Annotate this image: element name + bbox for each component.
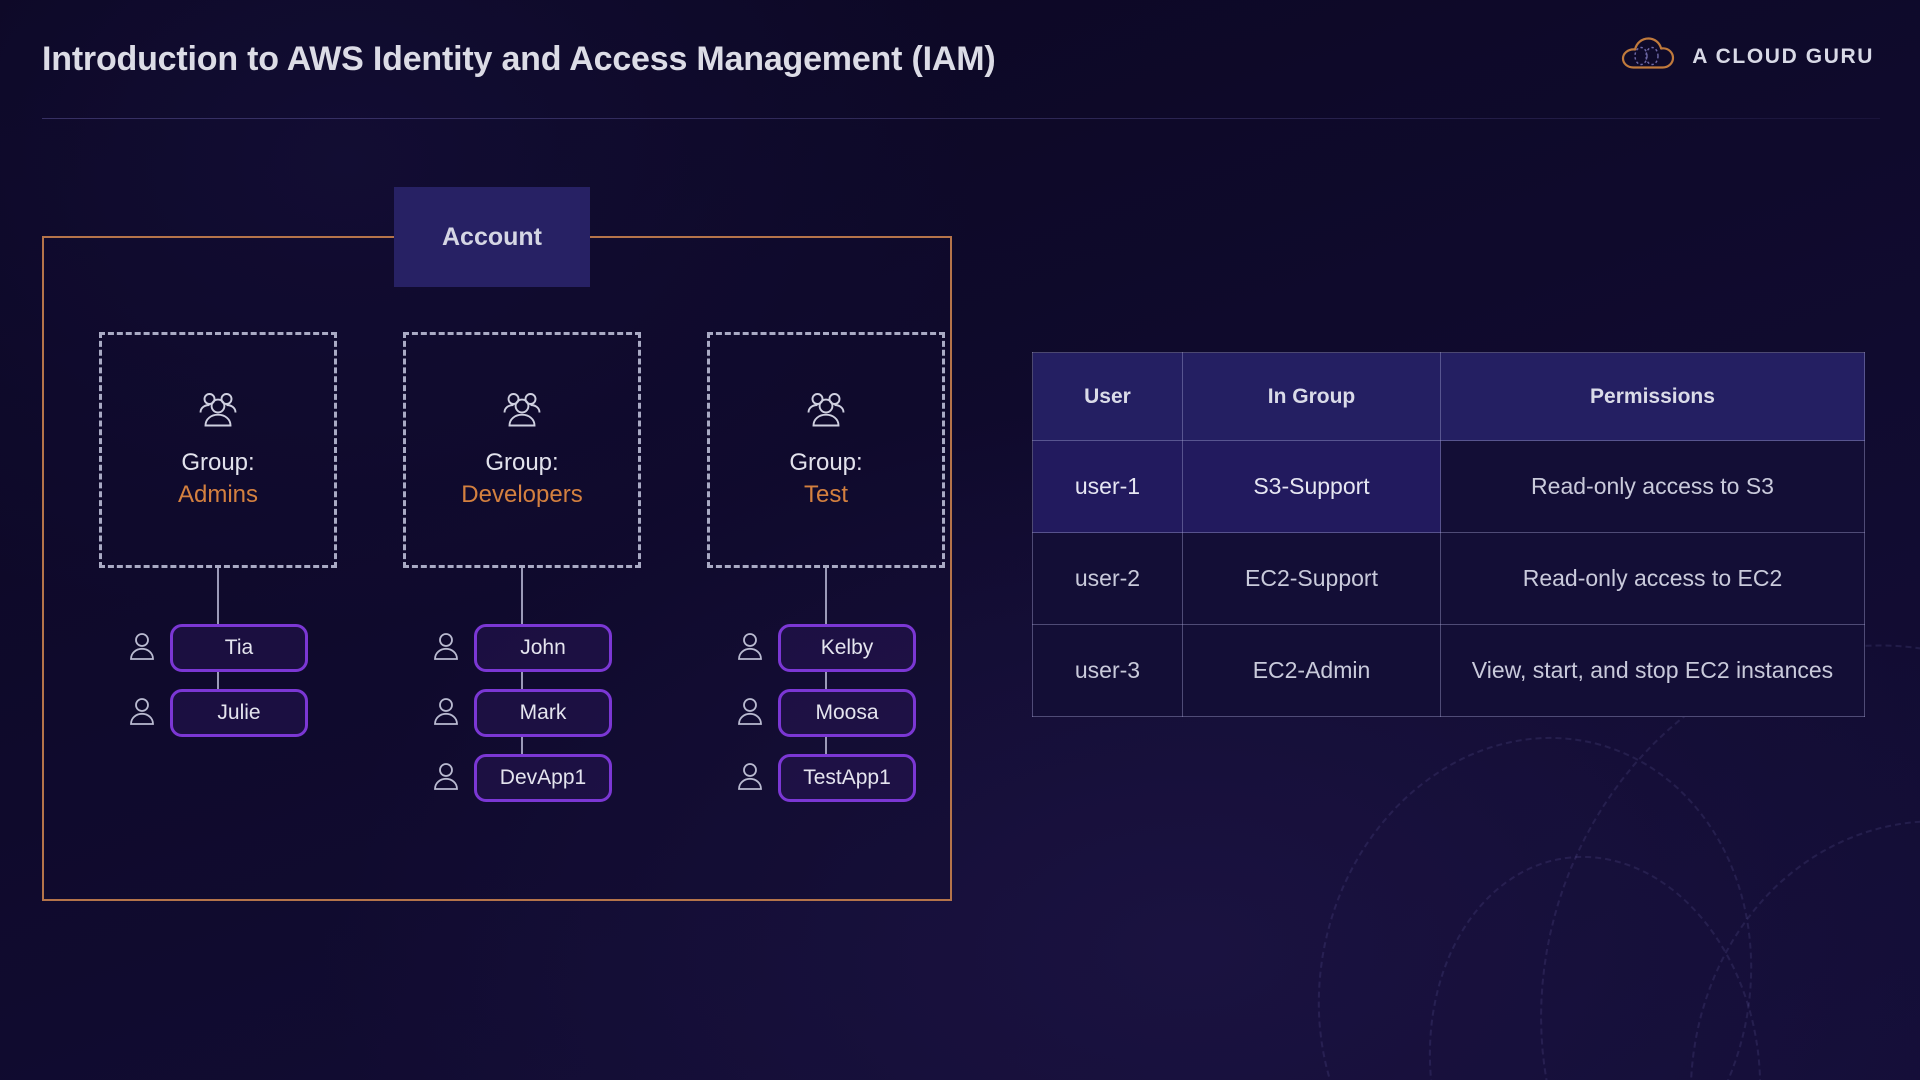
list-item[interactable]: John [370,624,674,672]
group-card[interactable]: Group: Developers [403,332,641,568]
page-title: Introduction to AWS Identity and Access … [42,40,995,79]
person-icon [736,761,764,796]
group-column-developers: Group: Developers John [370,332,674,802]
cell-permissions: Read-only access to S3 [1441,441,1865,533]
group-connector [521,568,523,624]
cell-permissions: View, start, and stop EC2 instances [1441,625,1865,717]
cell-permissions: Read-only access to EC2 [1441,533,1865,625]
decorative-ring [1266,690,1804,1080]
brand-name: A CLOUD GURU [1692,45,1874,69]
title-divider [42,118,1880,119]
person-icon [432,696,460,731]
person-icon [128,696,156,731]
user-pill[interactable]: John [474,624,612,672]
user-pill[interactable]: DevApp1 [474,754,612,802]
group-name: Developers [461,480,582,509]
cell-user: user-2 [1033,533,1183,625]
table-row[interactable]: user-3 EC2-Admin View, start, and stop E… [1033,625,1865,717]
user-connector [217,672,219,689]
group-label: Group: [485,448,558,477]
list-item[interactable]: Moosa [674,689,978,737]
list-item[interactable]: Mark [370,689,674,737]
permissions-table: User In Group Permissions user-1 S3-Supp… [1032,352,1865,717]
column-header-in-group: In Group [1183,353,1441,441]
user-pill[interactable]: Moosa [778,689,916,737]
person-icon [736,696,764,731]
list-item[interactable]: Kelby [674,624,978,672]
group-people-icon [499,391,545,434]
slide-header: Introduction to AWS Identity and Access … [0,0,1920,120]
group-label: Group: [181,448,254,477]
column-header-permissions: Permissions [1441,353,1865,441]
person-icon [432,761,460,796]
group-name: Admins [178,480,258,509]
list-item[interactable]: Tia [66,624,370,672]
table-row[interactable]: user-2 EC2-Support Read-only access to E… [1033,533,1865,625]
person-icon [128,631,156,666]
group-card[interactable]: Group: Test [707,332,945,568]
decorative-ring [1667,799,1920,1080]
user-pill[interactable]: Mark [474,689,612,737]
cell-in-group: S3-Support [1183,441,1441,533]
list-item[interactable]: TestApp1 [674,754,978,802]
user-pill[interactable]: Tia [170,624,308,672]
user-pill[interactable]: Kelby [778,624,916,672]
person-icon [432,631,460,666]
group-label: Group: [789,448,862,477]
group-connector [217,568,219,624]
decorative-ring [1402,834,1789,1080]
user-pill[interactable]: Julie [170,689,308,737]
user-connector [825,737,827,754]
groups-container: Group: Admins Tia [42,236,952,901]
cloud-icon [1620,36,1676,77]
person-icon [736,631,764,666]
cell-in-group: EC2-Admin [1183,625,1441,717]
table-row[interactable]: user-1 S3-Support Read-only access to S3 [1033,441,1865,533]
user-connector [521,672,523,689]
slide-root: Introduction to AWS Identity and Access … [0,0,1920,1080]
group-card[interactable]: Group: Admins [99,332,337,568]
user-connector [521,737,523,754]
group-people-icon [195,391,241,434]
group-column-test: Group: Test Kelby [674,332,978,802]
group-connector [825,568,827,624]
list-item[interactable]: Julie [66,689,370,737]
user-pill[interactable]: TestApp1 [778,754,916,802]
list-item[interactable]: DevApp1 [370,754,674,802]
cell-user: user-1 [1033,441,1183,533]
cell-in-group: EC2-Support [1183,533,1441,625]
user-connector [825,672,827,689]
group-name: Test [804,480,848,509]
brand-logo: A CLOUD GURU [1620,36,1874,77]
group-column-admins: Group: Admins Tia [66,332,370,737]
table-header-row: User In Group Permissions [1033,353,1865,441]
group-people-icon [803,391,849,434]
cell-user: user-3 [1033,625,1183,717]
column-header-user: User [1033,353,1183,441]
